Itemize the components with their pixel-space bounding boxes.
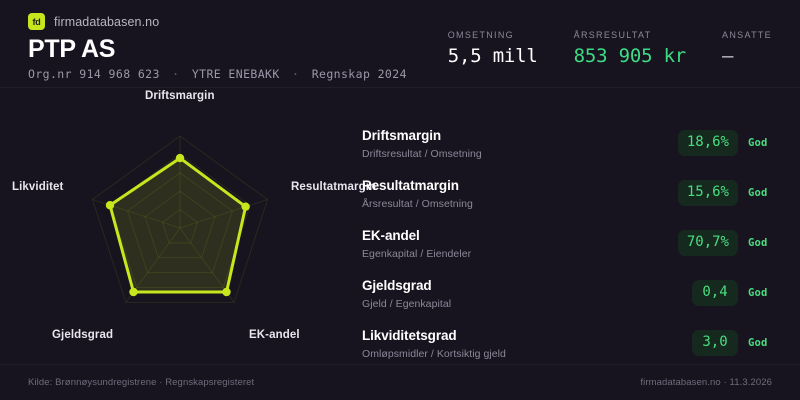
metric-formula: Omløpsmidler / Kortsiktig gjeld bbox=[362, 348, 692, 360]
footer-site-date: firmadatabasen.no · 11.3.2026 bbox=[640, 377, 772, 388]
metrics-list: Driftsmargin Driftsresultat / Omsetning … bbox=[362, 128, 774, 378]
kpi-omsetning: OMSETNING 5,5 mill bbox=[448, 30, 538, 66]
metric-rating: God bbox=[748, 337, 774, 349]
header: fd firmadatabasen.no PTP AS Org.nr 914 9… bbox=[0, 0, 800, 88]
brand[interactable]: fd firmadatabasen.no bbox=[28, 13, 159, 30]
kpi-strip: OMSETNING 5,5 mill ÅRSRESULTAT 853 905 k… bbox=[448, 30, 772, 66]
company-orgnr: Org.nr 914 968 623 bbox=[28, 67, 160, 81]
metric-row-gjeldsgrad: Gjeldsgrad Gjeld / Egenkapital 0,4 God bbox=[362, 278, 774, 318]
company-period: Regnskap 2024 bbox=[312, 67, 407, 81]
metric-title: Resultatmargin bbox=[362, 178, 678, 195]
kpi-ansatte-label: ANSATTE bbox=[722, 30, 772, 40]
metric-title: Likviditetsgrad bbox=[362, 328, 692, 345]
radar-axis-label-ek-andel: EK-andel bbox=[249, 329, 300, 341]
metric-texts: EK-andel Egenkapital / Eiendeler bbox=[362, 228, 678, 260]
metric-right: 15,6% God bbox=[678, 178, 774, 206]
meta-separator-1: · bbox=[167, 67, 184, 81]
metric-texts: Resultatmargin Årsresultat / Omsetning bbox=[362, 178, 678, 210]
metric-right: 18,6% God bbox=[678, 128, 774, 156]
kpi-arsresultat-value: 853 905 kr bbox=[574, 47, 686, 66]
kpi-omsetning-label: OMSETNING bbox=[448, 30, 538, 40]
kpi-omsetning-value: 5,5 mill bbox=[448, 47, 538, 66]
metric-right: 3,0 God bbox=[692, 328, 774, 356]
metric-texts: Driftsmargin Driftsresultat / Omsetning bbox=[362, 128, 678, 160]
metric-formula: Driftsresultat / Omsetning bbox=[362, 148, 678, 160]
footer-source: Kilde: Brønnøysundregistrene · Regnskaps… bbox=[28, 377, 254, 388]
metric-formula: Årsresultat / Omsetning bbox=[362, 198, 678, 210]
metric-right: 0,4 God bbox=[692, 278, 774, 306]
kpi-arsresultat: ÅRSRESULTAT 853 905 kr bbox=[574, 30, 686, 66]
metric-rating: God bbox=[748, 287, 774, 299]
metric-value-badge: 18,6% bbox=[678, 130, 738, 156]
firmadatabasen-logo-icon: fd bbox=[28, 13, 45, 30]
radar-axis-label-likviditet: Likviditet bbox=[12, 181, 63, 193]
metric-row-ek-andel: EK-andel Egenkapital / Eiendeler 70,7% G… bbox=[362, 228, 774, 268]
kpi-ansatte: ANSATTE – bbox=[722, 30, 772, 66]
kpi-ansatte-value: – bbox=[722, 47, 733, 66]
metric-formula: Gjeld / Egenkapital bbox=[362, 298, 692, 310]
metric-title: EK-andel bbox=[362, 228, 678, 245]
metric-row-driftsmargin: Driftsmargin Driftsresultat / Omsetning … bbox=[362, 128, 774, 168]
metric-title: Gjeldsgrad bbox=[362, 278, 692, 295]
infographic-card: fd firmadatabasen.no PTP AS Org.nr 914 9… bbox=[0, 0, 800, 400]
metric-right: 70,7% God bbox=[678, 228, 774, 256]
metric-texts: Gjeldsgrad Gjeld / Egenkapital bbox=[362, 278, 692, 310]
metric-value-badge: 3,0 bbox=[692, 330, 738, 356]
radar-axis-label-gjeldsgrad: Gjeldsgrad bbox=[52, 329, 113, 341]
kpi-arsresultat-label: ÅRSRESULTAT bbox=[574, 30, 686, 40]
footer: Kilde: Brønnøysundregistrene · Regnskaps… bbox=[0, 364, 800, 400]
meta-separator-2: · bbox=[287, 67, 304, 81]
metric-texts: Likviditetsgrad Omløpsmidler / Kortsikti… bbox=[362, 328, 692, 360]
metric-value-badge: 70,7% bbox=[678, 230, 738, 256]
metric-rating: God bbox=[748, 237, 774, 249]
radar-chart-svg bbox=[0, 88, 352, 360]
radar-chart: Driftsmargin Resultatmargin EK-andel Gje… bbox=[0, 88, 352, 360]
page-title: PTP AS bbox=[28, 35, 115, 64]
radar-axis-label-driftsmargin: Driftsmargin bbox=[145, 90, 215, 102]
metric-title: Driftsmargin bbox=[362, 128, 678, 145]
company-place: YTRE ENEBAKK bbox=[192, 67, 280, 81]
metric-rating: God bbox=[748, 137, 774, 149]
metric-row-resultatmargin: Resultatmargin Årsresultat / Omsetning 1… bbox=[362, 178, 774, 218]
brand-name: firmadatabasen.no bbox=[54, 15, 159, 29]
metric-formula: Egenkapital / Eiendeler bbox=[362, 248, 678, 260]
radar-series-area bbox=[110, 158, 246, 292]
company-meta: Org.nr 914 968 623 · YTRE ENEBAKK · Regn… bbox=[28, 67, 407, 81]
metric-value-badge: 15,6% bbox=[678, 180, 738, 206]
metric-value-badge: 0,4 bbox=[692, 280, 738, 306]
metric-row-likviditetsgrad: Likviditetsgrad Omløpsmidler / Kortsikti… bbox=[362, 328, 774, 368]
metric-rating: God bbox=[748, 187, 774, 199]
